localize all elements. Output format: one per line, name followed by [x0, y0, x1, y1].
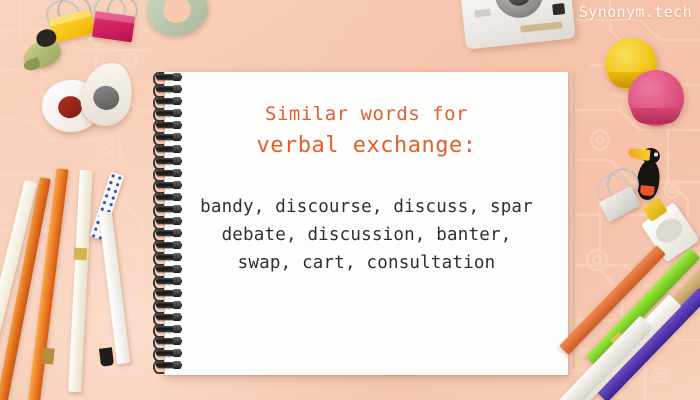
page-title: Similar words for verbal exchange:	[257, 101, 477, 161]
headline-line-2: verbal exchange:	[257, 130, 477, 161]
synonym-line: swap, cart, consultation	[200, 249, 533, 277]
pen-cream-band-icon	[74, 248, 88, 261]
notebook: Similar words for verbal exchange: bandy…	[152, 66, 572, 378]
watermark-logo: Synonym.tech	[579, 3, 692, 21]
pencil-eraser-tip-icon	[41, 347, 55, 364]
page-content: Similar words for verbal exchange: bandy…	[165, 72, 568, 375]
flatlay-scene: Similar words for verbal exchange: bandy…	[0, 0, 700, 400]
synonym-list: bandy, discourse, discuss, spar debate, …	[200, 193, 533, 277]
page-edge	[571, 74, 575, 369]
synonym-line: bandy, discourse, discuss, spar	[200, 193, 533, 221]
pen-white-cap-icon	[99, 347, 114, 366]
synonym-line: debate, discussion, banter,	[200, 221, 533, 249]
binder-clip-magenta-icon	[89, 1, 142, 47]
headline-line-1: Similar words for	[257, 101, 477, 128]
